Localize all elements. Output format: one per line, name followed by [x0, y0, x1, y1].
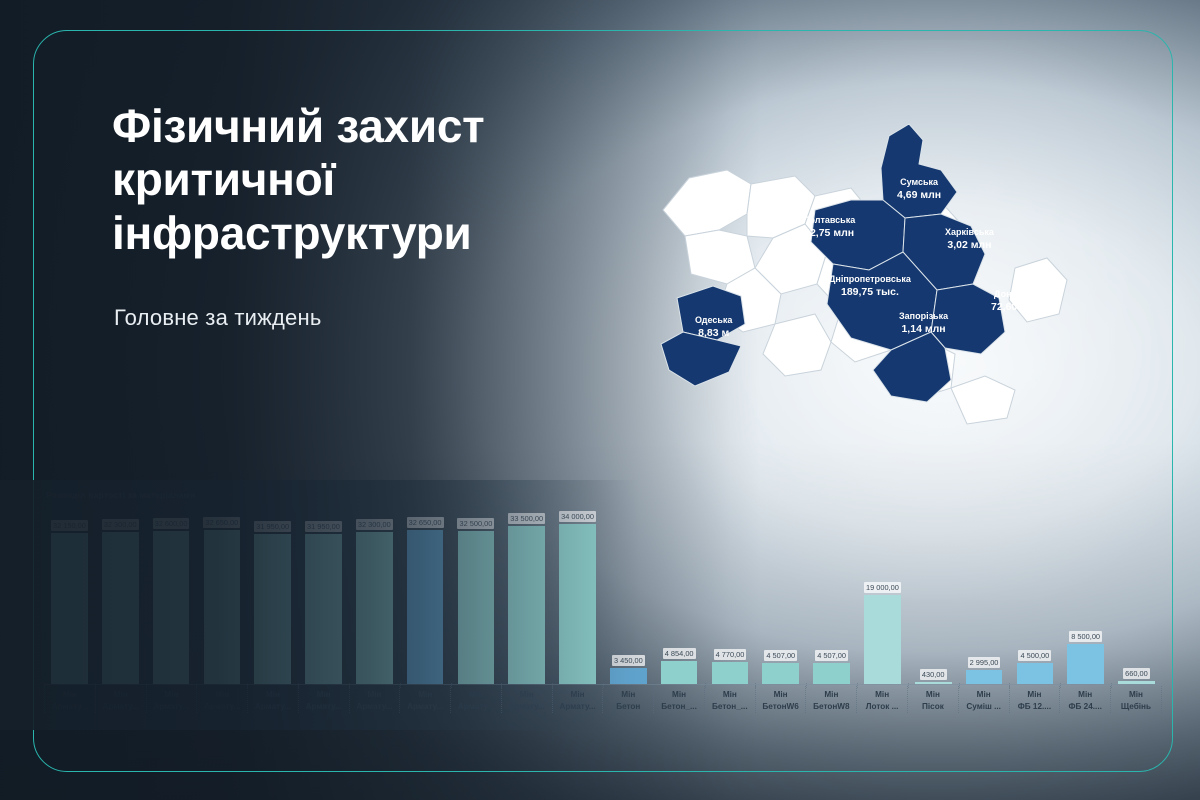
chart-bar	[356, 532, 393, 684]
chart-bar	[1017, 663, 1054, 684]
chart-bar-column: 31 950,00	[247, 506, 298, 684]
chart-x-label: МінАрмату...	[196, 686, 247, 713]
chart-bar	[153, 531, 190, 684]
chart-bar	[966, 670, 1003, 684]
chart-bar-column: 4 507,00	[755, 506, 806, 684]
chart-bar-value-label: 4 500,00	[1018, 650, 1051, 661]
chart-bar-value-label: 33 500,00	[508, 513, 545, 524]
chart-bar	[610, 668, 647, 684]
chart-bar-value-label: 4 854,00	[663, 648, 696, 659]
chart-bar-value-label: 4 770,00	[714, 649, 747, 660]
chart-bar-value-label: 660,00	[1123, 668, 1150, 679]
chart-bar-column: 32 150,00	[44, 506, 95, 684]
chart-bar-column: 660,00	[1111, 506, 1162, 684]
chart-bar	[458, 531, 495, 684]
chart-x-label: МінАрмату...	[349, 686, 400, 713]
chart-x-label: МінФБ 24....	[1059, 686, 1110, 713]
chart-bar-column: 32 300,00	[95, 506, 146, 684]
chart-x-label: МінАрмату...	[44, 686, 95, 713]
page-title: Фізичний захист критичної інфраструктури	[112, 100, 632, 260]
chart-bar	[712, 662, 749, 684]
chart-bar	[508, 526, 545, 684]
chart-x-label: МінАрмату...	[247, 686, 298, 713]
chart-bar-column: 3 450,00	[603, 506, 654, 684]
chart-bar-column: 32 300,00	[349, 506, 400, 684]
chart-bar-value-label: 32 300,00	[102, 519, 139, 530]
chart-bar	[559, 524, 596, 684]
map-label-zaporizka: Запорізька 1,14 млн	[899, 310, 948, 336]
chart-bar	[51, 533, 88, 684]
chart-bar-value-label: 32 500,00	[457, 518, 494, 529]
chart-bar-value-label: 32 600,00	[153, 518, 190, 529]
chart-bar	[1067, 644, 1104, 684]
chart-plot-area: 32 150,0032 300,0032 600,0032 650,0031 9…	[44, 506, 1162, 684]
chart-bar-column: 31 950,00	[298, 506, 349, 684]
chart-bar-column: 34 000,00	[552, 506, 603, 684]
chart-bar	[305, 534, 342, 684]
chart-bar	[204, 530, 241, 684]
chart-bar-column: 19 000,00	[857, 506, 908, 684]
chart-bar	[661, 661, 698, 684]
chart-bar-column: 32 650,00	[196, 506, 247, 684]
chart-bars: 32 150,0032 300,0032 600,0032 650,0031 9…	[44, 506, 1162, 684]
chart-x-label: МінФБ 12....	[1009, 686, 1060, 713]
map-label-poltavska: Полтавська 22,75 млн	[803, 214, 855, 240]
chart-bar-value-label: 31 950,00	[305, 521, 342, 532]
chart-bar-value-label: 4 507,00	[815, 650, 848, 661]
title-line-2: критичної	[112, 153, 632, 206]
ukraine-region-map: Сумська 4,69 млн Полтавська 22,75 млн Ха…	[655, 118, 1125, 428]
map-label-sumska: Сумська 4,69 млн	[897, 176, 941, 202]
chart-bar-value-label: 19 000,00	[864, 582, 901, 593]
chart-bar-column: 4 770,00	[705, 506, 756, 684]
chart-bar-column: 32 650,00	[400, 506, 451, 684]
chart-x-label: МінАрмату...	[146, 686, 197, 713]
chart-bar-column: 2 995,00	[959, 506, 1010, 684]
chart-x-label: МінАрмату...	[298, 686, 349, 713]
chart-bar-value-label: 4 507,00	[764, 650, 797, 661]
chart-bar-column: 8 500,00	[1060, 506, 1111, 684]
chart-x-label: МінБетон	[602, 686, 653, 713]
chart-bar-column: 32 500,00	[451, 506, 502, 684]
chart-bar-value-label: 32 300,00	[356, 519, 393, 530]
chart-x-label: МінАрмату...	[450, 686, 501, 713]
title-line-3: інфраструктури	[112, 207, 632, 260]
chart-bar	[762, 663, 799, 684]
chart-x-label: МінБетонW8	[805, 686, 856, 713]
slide-canvas: Фізичний захист критичної інфраструктури…	[0, 0, 1200, 800]
chart-bar-value-label: 31 950,00	[254, 521, 291, 532]
chart-bar-value-label: 32 150,00	[51, 520, 88, 531]
chart-bar-column: 430,00	[908, 506, 959, 684]
chart-x-label: МінАрмату...	[501, 686, 552, 713]
title-line-1: Фізичний захист	[112, 100, 632, 153]
chart-x-label: МінАрмату...	[552, 686, 603, 713]
map-label-kharkivska: Харківська 3,02 млн	[945, 226, 994, 252]
map-label-dnipropetrovska: Дніпропетровська 189,75 тыс.	[829, 273, 911, 299]
chart-bar-value-label: 8 500,00	[1069, 631, 1102, 642]
chart-bar-value-label: 430,00	[920, 669, 947, 680]
chart-bar-column: 33 500,00	[501, 506, 552, 684]
chart-bar-value-label: 32 650,00	[203, 517, 240, 528]
chart-x-label: МінБетон_...	[704, 686, 755, 713]
map-label-odeska: Одеська 8,83 м	[695, 314, 732, 340]
chart-bar	[407, 530, 444, 684]
chart-bar-column: 4 854,00	[654, 506, 705, 684]
chart-x-label: МінЛоток ...	[856, 686, 907, 713]
chart-bar-value-label: 3 450,00	[612, 655, 645, 666]
map-label-donetska: Донецька 72,60 тыс	[991, 288, 1040, 314]
chart-bar	[864, 595, 901, 684]
chart-bar-column: 4 500,00	[1009, 506, 1060, 684]
chart-x-label: МінБетонW6	[755, 686, 806, 713]
chart-x-label: МінЩебінь	[1110, 686, 1162, 713]
chart-x-labels: МінАрмату...МінАрмату...МінАрмату...МінА…	[44, 686, 1162, 713]
chart-x-label: МінАрмату...	[399, 686, 450, 713]
chart-bar-column: 32 600,00	[146, 506, 197, 684]
chart-bar	[813, 663, 850, 684]
chart-x-label: МінСуміш ...	[958, 686, 1009, 713]
chart-x-label: МінАрмату...	[95, 686, 146, 713]
chart-bar-value-label: 34 000,00	[559, 511, 596, 522]
chart-title: Розподіл вартості за матеріалами	[46, 490, 195, 500]
chart-bar-value-label: 32 650,00	[407, 517, 444, 528]
page-subtitle: Головне за тиждень	[114, 305, 322, 331]
materials-cost-chart: Розподіл вартості за матеріалами 32 150,…	[44, 490, 1162, 720]
chart-bar-value-label: 2 995,00	[968, 657, 1001, 668]
chart-bar	[102, 532, 139, 684]
chart-x-label: МінПісок	[907, 686, 958, 713]
chart-x-label: МінБетон_...	[653, 686, 704, 713]
chart-bar	[254, 534, 291, 684]
chart-bar-column: 4 507,00	[806, 506, 857, 684]
